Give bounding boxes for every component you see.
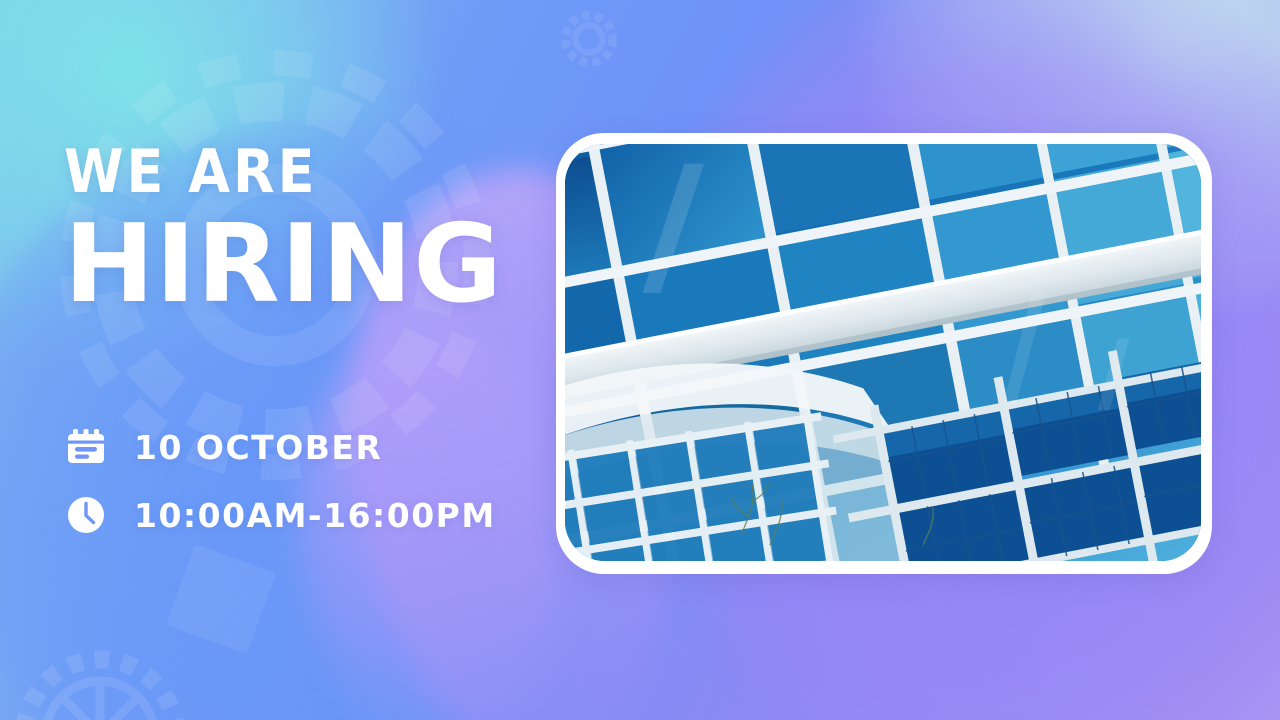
headline-line-1: WE ARE bbox=[64, 142, 503, 202]
gear-watermark-small-icon bbox=[558, 8, 620, 70]
calendar-icon bbox=[64, 425, 108, 469]
clock-icon bbox=[64, 493, 108, 537]
detail-row-time: 10:00AM-16:00PM bbox=[64, 493, 496, 537]
headline-block: WE ARE HIRING bbox=[64, 142, 503, 317]
building-photo bbox=[565, 144, 1201, 561]
event-details: 10 OCTOBER 10:00AM-16:00PM bbox=[64, 425, 496, 561]
detail-row-date: 10 OCTOBER bbox=[64, 425, 496, 469]
detail-date-text: 10 OCTOBER bbox=[134, 428, 382, 467]
poster-canvas: WE ARE HIRING 10 OCTOBER bbox=[0, 0, 1280, 720]
headline-line-2: HIRING bbox=[64, 214, 503, 317]
gear-watermark-bottom-left-icon bbox=[10, 645, 190, 720]
photo-card bbox=[556, 133, 1212, 574]
detail-time-text: 10:00AM-16:00PM bbox=[134, 496, 496, 535]
